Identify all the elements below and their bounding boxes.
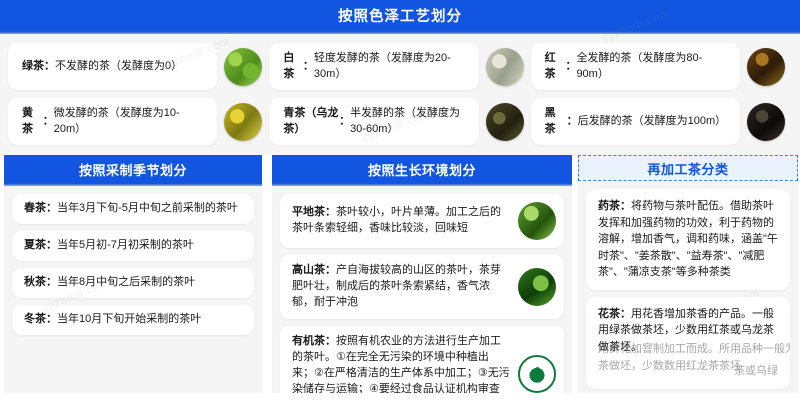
tea-separator: ： <box>46 276 57 288</box>
list-item[interactable]: 药茶：将药物与茶叶配伍。借助茶叶发挥和加强药物的功效，利于药物的溶解，增加香气，… <box>586 189 790 290</box>
season-column: 按照采制季节划分 春茶：当年3月下旬-5月中旬之前采制的茶叶 夏茶：当年5月初-… <box>4 155 262 393</box>
tea-card-white[interactable]: 白茶：轻度发酵的茶（发酵度为20-30m） <box>269 43 478 90</box>
tea-separator: ： <box>567 114 578 129</box>
tea-separator: ： <box>46 313 57 325</box>
list-item[interactable]: 冬茶：当年10月下旬开始采制的茶叶 <box>12 305 254 335</box>
tea-name: 秋茶 <box>24 276 46 288</box>
tea-cell: 黑茶：后发酵的茶（发酵度为100m） <box>531 98 792 145</box>
tea-name: 红茶 <box>545 51 566 82</box>
environment-list: 平地茶：茶叶较小，叶片单薄。加工之后的茶叶条索轻细，香味比较淡，回味短 高山茶：… <box>272 186 572 393</box>
tea-name: 黄茶 <box>22 106 43 137</box>
environment-column: 按照生长环境划分 平地茶：茶叶较小，叶片单薄。加工之后的茶叶条索轻细，香味比较淡… <box>272 155 572 393</box>
organic-certification-logo <box>518 355 556 393</box>
reprocessed-column: 再加工茶分类 药茶：将药物与茶叶配伍。借助茶叶发挥和加强药物的功效，利于药物的溶… <box>578 155 798 393</box>
tea-description: 半发酵的茶（发酵度为30-60m） <box>350 106 465 137</box>
tea-separator: ： <box>325 335 336 347</box>
tea-separator: ： <box>565 59 576 74</box>
tea-name: 白茶 <box>283 51 303 82</box>
tea-description: 当年3月下旬-5月中旬之前采制的茶叶 <box>57 202 238 214</box>
tea-description: 微发酵的茶（发酵度为10-20m） <box>54 106 204 137</box>
list-item[interactable]: 花茶：用花香增加茶香的产品。一般用绿茶做茶坯，少数用红茶或乌龙茶做茶坯。 用鲜花… <box>586 297 790 389</box>
dark-tea-thumbnail <box>747 103 785 141</box>
tea-name: 有机茶 <box>292 335 325 347</box>
section-title-season: 按照采制季节划分 <box>4 155 262 183</box>
tea-description: 后发酵的茶（发酵度为100m） <box>578 114 726 129</box>
tea-card-yellow[interactable]: 黄茶：微发酵的茶（发酵度为10-20m） <box>8 98 217 145</box>
tea-cell: 青茶（乌龙茶）：半发酵的茶（发酵度为30-60m） <box>269 98 530 145</box>
list-item[interactable]: 春茶：当年3月下旬-5月中旬之前采制的茶叶 <box>12 194 254 224</box>
color-craft-section: 按照色泽工艺划分 绿茶：不发酵的茶（发酵度为0） 白茶：轻度发酵的茶（发酵度为2… <box>0 0 800 155</box>
reprocessed-list: 药茶：将药物与茶叶配伍。借助茶叶发挥和加强药物的功效，利于药物的溶解，增加香气，… <box>578 181 798 393</box>
flatland-tea-thumbnail <box>518 202 556 240</box>
tea-description: 不发酵的茶（发酵度为0） <box>55 59 182 74</box>
mountain-tea-thumbnail <box>518 268 556 306</box>
tea-cell: 红茶：全发酵的茶（发酵度为80-90m） <box>531 43 792 90</box>
tea-card-green[interactable]: 绿茶：不发酵的茶（发酵度为0） <box>8 43 217 90</box>
tea-name: 夏茶 <box>24 239 46 251</box>
tea-name: 绿茶 <box>22 59 44 74</box>
list-item[interactable]: 秋茶：当年8月中旬之后采制的茶叶 <box>12 268 254 298</box>
tea-separator: ： <box>620 200 631 212</box>
list-item[interactable]: 有机茶：按照有机农业的方法进行生产加工的茶叶。①在完全无污染的环境中种植出来；②… <box>280 326 564 393</box>
tea-name: 高山茶 <box>292 264 325 276</box>
tea-description: 当年5月初-7月初采制的茶叶 <box>57 239 194 251</box>
tea-separator: ： <box>303 59 314 74</box>
tea-card-oolong[interactable]: 青茶（乌龙茶）：半发酵的茶（发酵度为30-60m） <box>269 98 478 145</box>
color-craft-panel: 绿茶：不发酵的茶（发酵度为0） 白茶：轻度发酵的茶（发酵度为20-30m） 红茶… <box>0 34 800 155</box>
yellow-tea-thumbnail <box>224 103 262 141</box>
tea-name: 平地茶 <box>292 206 325 218</box>
list-item[interactable]: 夏茶：当年5月初-7月初采制的茶叶 <box>12 231 254 261</box>
section-title-environment: 按照生长环境划分 <box>272 155 572 183</box>
tea-separator: ： <box>46 202 57 214</box>
tea-description: 当年8月中旬之后采制的茶叶 <box>57 276 195 288</box>
tea-name: 黑茶 <box>545 106 567 137</box>
tea-row-1: 绿茶：不发酵的茶（发酵度为0） 白茶：轻度发酵的茶（发酵度为20-30m） 红茶… <box>8 43 792 90</box>
tea-name: 冬茶 <box>24 313 46 325</box>
green-tea-thumbnail <box>224 48 262 86</box>
tea-cell: 黄茶：微发酵的茶（发酵度为10-20m） <box>8 98 269 145</box>
tea-name: 春茶 <box>24 202 46 214</box>
tea-separator: ： <box>43 114 54 129</box>
season-list: 春茶：当年3月下旬-5月中旬之前采制的茶叶 夏茶：当年5月初-7月初采制的茶叶 … <box>4 186 262 393</box>
leaf-icon <box>524 361 550 387</box>
tea-separator: ： <box>44 59 55 74</box>
list-item[interactable]: 高山茶：产自海拔较高的山区的茶叶，茶芽肥叶壮，制成后的茶叶条索紧结，香气浓郁，耐… <box>280 255 564 319</box>
section-title-color-craft: 按照色泽工艺划分 <box>0 0 800 31</box>
overlapping-text-artifact: 茶或乌绿 <box>734 363 778 380</box>
tea-description: 轻度发酵的茶（发酵度为20-30m） <box>314 51 465 82</box>
tea-cell: 白茶：轻度发酵的茶（发酵度为20-30m） <box>269 43 530 90</box>
tea-separator: ： <box>325 206 336 218</box>
tea-description: 全发酵的茶（发酵度为80-90m） <box>576 51 726 82</box>
tea-card-dark[interactable]: 黑茶：后发酵的茶（发酵度为100m） <box>531 98 740 145</box>
tea-name: 花茶 <box>598 308 620 320</box>
tea-row-2: 黄茶：微发酵的茶（发酵度为10-20m） 青茶（乌龙茶）：半发酵的茶（发酵度为3… <box>8 98 792 145</box>
overlapping-text-artifact: 茶做坯，少数数用红龙茶茶坯 <box>598 358 741 375</box>
tea-separator: ： <box>339 114 350 129</box>
black-red-tea-thumbnail <box>747 48 785 86</box>
tea-separator: ： <box>325 264 336 276</box>
bottom-columns: 按照采制季节划分 春茶：当年3月下旬-5月中旬之前采制的茶叶 夏茶：当年5月初-… <box>0 155 800 393</box>
list-item[interactable]: 平地茶：茶叶较小，叶片单薄。加工之后的茶叶条索轻细，香味比较淡，回味短 <box>280 194 564 248</box>
section-title-reprocessed[interactable]: 再加工茶分类 <box>578 155 798 181</box>
tea-cell: 绿茶：不发酵的茶（发酵度为0） <box>8 43 269 90</box>
white-tea-thumbnail <box>486 48 524 86</box>
tea-description: 当年10月下旬开始采制的茶叶 <box>57 313 201 325</box>
tea-name: 药茶 <box>598 200 620 212</box>
oolong-tea-thumbnail <box>486 103 524 141</box>
tea-name: 青茶（乌龙茶） <box>283 106 339 137</box>
tea-separator: ： <box>620 308 631 320</box>
infographic-page: yyzhmb.com yyzhmb.com yyzhmb.com yyzhmb.… <box>0 0 800 404</box>
tea-separator: ： <box>46 239 57 251</box>
tea-card-red[interactable]: 红茶：全发酵的茶（发酵度为80-90m） <box>531 43 740 90</box>
